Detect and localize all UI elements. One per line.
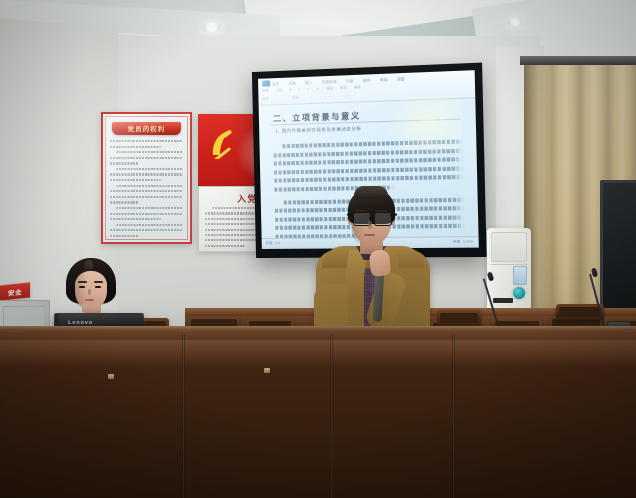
conference-room-photo: 党员的权利 [0, 0, 636, 498]
wall-monitor [600, 180, 636, 316]
presenter-hair-top [354, 186, 388, 199]
desk-panel-seam [452, 334, 455, 498]
chair-headrest [437, 310, 481, 326]
curtain-rod [520, 56, 636, 65]
ceiling-downlight [203, 22, 220, 33]
ac-display-panel [513, 266, 527, 285]
ac-grille [491, 232, 527, 262]
attendee-eyebrow [94, 281, 103, 283]
presenter-nose [368, 221, 372, 229]
desk-panel-seam [330, 334, 333, 498]
desk-panel-seam [182, 334, 185, 498]
poster-glare [198, 186, 253, 252]
ac-dial-icon [513, 287, 525, 299]
poster-party-duties: 党员的权利 [101, 112, 192, 244]
exit-sign-label: 安全 [0, 282, 30, 300]
desk-latch [108, 374, 114, 379]
desk-latch [264, 368, 270, 373]
exit-sign: 安全 [0, 282, 30, 300]
ceiling-downlight [508, 18, 522, 27]
attendee-eyebrow [78, 281, 87, 283]
ac-seam [490, 264, 528, 265]
attendee-nose [88, 289, 91, 295]
presenter-hand-upper [369, 249, 392, 277]
slide-subheading: 1. 国内外相关研究现状及发展动态分析 [275, 123, 461, 135]
status-wordcount: 字数: 3,842 [453, 239, 473, 243]
ac-vent [493, 298, 513, 303]
status-page: 页面: 1/6 [266, 241, 281, 245]
glasses-bridge-icon [369, 217, 374, 219]
desk-front-sheen [0, 340, 636, 366]
attendee-mouth [85, 299, 94, 301]
desk-top-highlight [0, 326, 636, 330]
